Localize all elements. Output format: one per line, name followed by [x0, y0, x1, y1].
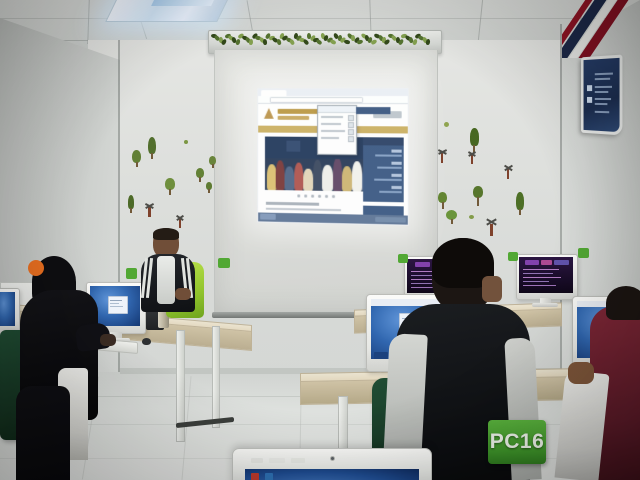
browser-url-bar [270, 97, 363, 103]
webcam-icon [331, 457, 334, 460]
far-right-hand [568, 362, 594, 384]
garland-leaf [343, 39, 350, 44]
desk-leg [212, 326, 220, 428]
garland-leaf [302, 38, 309, 45]
garland-leaf [384, 38, 391, 45]
garland-leaf [249, 39, 254, 45]
hijab-lower [16, 386, 70, 480]
mouse-left [142, 338, 151, 345]
garland-leaf [276, 39, 282, 46]
carousel-caption-heading [266, 202, 319, 206]
monitor-far-left-screen [0, 292, 15, 326]
carousel-caption-line [266, 208, 341, 211]
student-ear-neck [482, 276, 502, 302]
photo-scene: PC16 [0, 0, 640, 480]
far-right-head [606, 286, 640, 320]
garland-leaf [221, 38, 228, 45]
instructor-hand [175, 288, 191, 300]
system-tray [375, 217, 406, 223]
garland-leaf [426, 39, 431, 46]
leaf-garland [212, 31, 436, 45]
carousel-dots [297, 194, 339, 199]
student-hand [100, 334, 116, 346]
person-instructor [139, 228, 199, 314]
site-brand-line-2 [278, 116, 309, 120]
projected-browser-window [257, 88, 409, 226]
sidebar-panel-header [363, 137, 404, 145]
garland-leaf [263, 39, 268, 45]
garland-leaf [412, 38, 418, 45]
corner-banner [562, 0, 640, 58]
station-tag [218, 258, 230, 268]
wall-poster [581, 55, 622, 136]
garland-leaf [289, 38, 295, 45]
instructor-hair [153, 228, 179, 240]
highlighted-row [356, 107, 390, 114]
garland-leaf [329, 39, 336, 45]
leaf-decal [444, 122, 449, 127]
dialog-titlebar [318, 106, 356, 113]
station-tag [126, 268, 137, 279]
pc-station-label: PC16 [488, 420, 546, 464]
ceiling-grid-line [0, 18, 640, 19]
garland-leaf [357, 39, 364, 45]
instructor-shirt [157, 256, 175, 304]
hijab-orange-accent [28, 260, 44, 276]
person-student-far-right [560, 286, 640, 480]
leaf-decal [184, 140, 188, 144]
ceiling-light-glow [151, 0, 219, 6]
garland-leaf [398, 38, 405, 45]
person-student-hijab [14, 256, 122, 480]
garland-leaf [316, 39, 323, 46]
start-button [260, 214, 276, 220]
foreground-monitor-screen [245, 469, 419, 480]
modal-dialog [317, 105, 357, 155]
station-tag [578, 248, 589, 258]
foreground-monitor [232, 448, 432, 480]
garland-leaf [235, 39, 241, 46]
leaf-decal [469, 215, 474, 219]
